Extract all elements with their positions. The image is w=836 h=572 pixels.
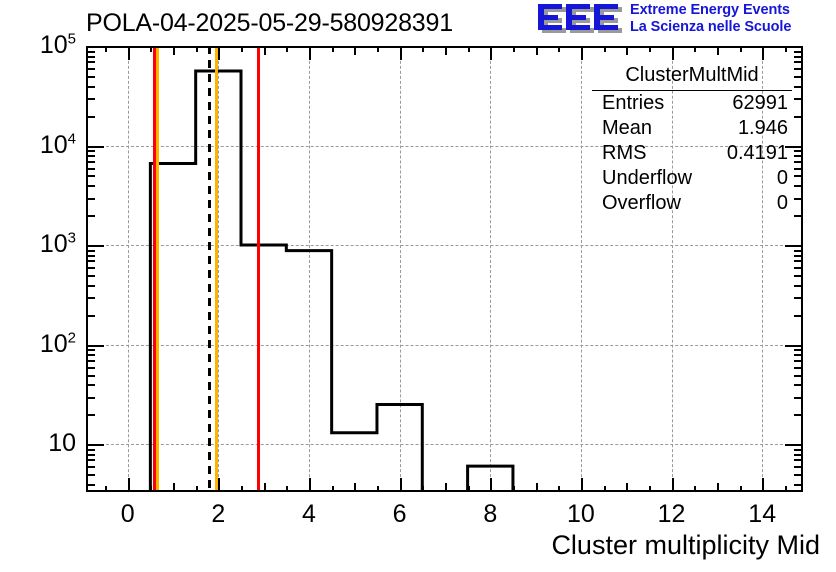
x-axis-title: Cluster multiplicity Mid [430,528,820,562]
y-axis-tick [86,449,95,451]
eee-logo-mark-icon [536,4,624,36]
y-axis-tick-right [794,459,803,461]
x-axis-tick-top [128,46,130,60]
x-axis-tick-top [196,46,198,52]
y-axis-tick [86,168,95,170]
y-axis-tick-right [794,98,803,100]
y-axis-tick [86,354,95,356]
eee-logo: Extreme Energy Events La Scienza nelle S… [536,2,836,38]
y-axis-tick [86,255,95,257]
y-axis-tick [86,150,95,152]
page-title: POLA-04-2025-05-29-580928391 [86,8,566,38]
y-axis-tick-right [794,255,803,257]
stats-row-label: Mean [602,116,652,141]
y-axis-tick-right [794,250,803,252]
y-axis-tick [86,297,95,299]
y-axis-tick-right [794,260,803,262]
x-axis-tick-top [581,46,583,60]
x-axis-tick [694,486,696,492]
stats-title: ClusterMultMid [592,63,792,91]
y-axis-tick [86,397,95,399]
stats-row: Mean1.946 [592,116,792,141]
y-axis-tick [86,484,95,486]
stats-row-value: 0 [777,191,788,216]
stats-row-label: Underflow [602,166,692,191]
y-axis-tick-right [794,297,803,299]
x-axis-tick [581,478,583,492]
stats-rows: Entries62991Mean1.946RMS0.4191Underflow0… [592,91,792,216]
x-axis-tick [513,486,515,492]
x-axis-tick-top [332,46,334,52]
y-axis-tick [86,76,95,78]
y-axis-label: 102 [0,331,76,357]
y-axis-tick [86,360,95,362]
eee-logo-line1: Extreme Energy Events [630,2,836,19]
y-axis-tick-right [794,360,803,362]
y-axis-tick [86,146,104,148]
x-axis-tick-top [626,46,628,55]
y-axis-tick-right [794,367,803,369]
x-axis-tick [173,483,175,492]
x-axis-tick [377,486,379,492]
y-axis-tick [86,155,95,157]
y-axis-tick [86,51,95,53]
y-axis-tick [86,315,95,317]
x-axis-tick-top [672,46,674,60]
stats-box: ClusterMultMid Entries62991Mean1.946RMS0… [592,63,792,208]
x-axis-label: 14 [732,500,792,528]
y-axis-tick [86,444,104,446]
stats-row-value: 1.946 [738,116,788,141]
x-axis-tick [762,478,764,492]
y-axis-tick-right [794,285,803,287]
x-axis-tick-top [286,46,288,52]
y-axis-tick-right [794,161,803,163]
x-axis-tick-top [740,46,742,52]
y-axis-tick-right [794,474,803,476]
y-axis-tick-right [794,354,803,356]
y-axis-tick-right [794,375,803,377]
x-axis-label: 10 [551,500,611,528]
x-axis-tick-top [309,46,311,60]
x-axis-label: 2 [188,500,248,528]
y-axis-tick-right [794,198,803,200]
y-axis-tick [86,250,95,252]
y-axis-tick [86,161,95,163]
x-axis-tick-top [264,46,266,55]
y-axis-tick [86,349,95,351]
y-axis-tick-right [785,345,803,347]
x-axis-tick [128,478,130,492]
x-axis-tick [354,483,356,492]
x-axis-tick-top [377,46,379,52]
x-axis-tick [649,486,651,492]
x-axis-tick [626,483,628,492]
x-axis-tick-top [513,46,515,52]
y-axis-tick-right [794,275,803,277]
y-axis-tick-right [794,454,803,456]
y-axis-tick [86,267,95,269]
stats-row: Underflow0 [592,166,792,191]
y-axis-tick-right [794,150,803,152]
y-axis-tick-right [794,68,803,70]
stats-row-label: Overflow [602,191,681,216]
y-axis-tick [86,367,95,369]
y-axis-tick-right [794,61,803,63]
y-axis-tick [86,198,95,200]
y-axis-tick [86,375,95,377]
x-axis-tick [241,486,243,492]
y-axis-tick [86,384,95,386]
x-axis-tick [558,486,560,492]
y-axis-tick-right [794,168,803,170]
stats-row: Entries62991 [592,91,792,116]
y-axis-tick-right [794,51,803,53]
y-axis-tick-right [794,155,803,157]
x-axis-tick [536,483,538,492]
y-axis-tick [86,185,95,187]
y-axis-tick [86,68,95,70]
y-axis-tick [86,245,104,247]
y-axis-label: 10 [0,430,76,456]
y-axis-tick [86,260,95,262]
x-axis-tick [105,486,107,492]
y-axis-tick-right [794,315,803,317]
y-axis-tick-right [794,414,803,416]
x-axis-tick [717,483,719,492]
stats-row-label: RMS [602,141,646,166]
x-axis-tick [400,478,402,492]
y-axis-tick-right [785,46,803,48]
x-axis-tick-top [717,46,719,55]
y-axis-label: 103 [0,231,76,257]
x-axis-label: 12 [642,500,702,528]
y-axis-tick-right [794,175,803,177]
stats-row-value: 0 [777,166,788,191]
y-axis-label: 104 [0,132,76,158]
x-axis-tick-top [536,46,538,55]
y-axis-tick [86,116,95,118]
y-axis-tick-right [794,484,803,486]
y-axis-tick [86,175,95,177]
x-axis-label: 0 [98,500,158,528]
x-axis-tick-top [762,46,764,60]
stats-row: Overflow0 [592,191,792,216]
x-axis-tick-top [400,46,402,60]
y-axis-tick-right [785,444,803,446]
x-axis-label: 8 [460,500,520,528]
x-axis-tick-top [218,46,220,60]
y-axis-tick-right [794,76,803,78]
x-axis-tick-top [241,46,243,52]
y-axis-tick [86,86,95,88]
x-axis-tick [218,478,220,492]
x-axis-tick [422,486,424,492]
x-axis-tick [309,478,311,492]
stats-row-value: 62991 [732,91,788,116]
x-axis-tick [740,486,742,492]
y-axis-tick-right [785,245,803,247]
x-axis-label: 4 [279,500,339,528]
y-axis-tick [86,56,95,58]
y-axis-tick-right [794,349,803,351]
x-axis-tick-top [558,46,560,52]
x-axis-tick-top [354,46,356,55]
x-axis-tick-top [468,46,470,52]
y-axis-tick-right [794,56,803,58]
x-axis-tick-top [649,46,651,52]
y-axis-tick [86,466,95,468]
y-axis-tick [86,98,95,100]
root-canvas: POLA-04-2025-05-29-580928391 [0,0,836,572]
y-axis-tick-right [794,449,803,451]
x-axis-tick [196,486,198,492]
y-axis-tick-right [794,185,803,187]
stats-row-value: 0.4191 [727,141,788,166]
y-axis-tick-right [794,384,803,386]
x-axis-tick-top [105,46,107,52]
x-axis-tick [286,486,288,492]
y-axis-tick [86,275,95,277]
y-axis-tick [86,345,104,347]
y-axis-tick [86,285,95,287]
y-axis-tick-right [794,466,803,468]
x-axis-tick-top [604,46,606,52]
stats-row-label: Entries [602,91,664,116]
y-axis-tick-right [794,267,803,269]
y-axis-tick-right [794,397,803,399]
y-axis-label: 105 [0,32,76,58]
y-axis-tick [86,474,95,476]
x-axis-tick [264,483,266,492]
x-axis-tick-top [422,46,424,52]
x-axis-tick [785,486,787,492]
x-axis-tick-top [490,46,492,60]
y-axis-tick [86,459,95,461]
x-axis-tick-top [150,46,152,52]
stats-row: RMS0.4191 [592,141,792,166]
eee-logo-line2: La Scienza nelle Scuole [630,19,836,36]
x-axis-tick-top [445,46,447,55]
x-axis-tick [490,478,492,492]
y-axis-tick [86,61,95,63]
y-axis-tick-right [794,116,803,118]
x-axis-tick [150,486,152,492]
x-axis-tick [445,483,447,492]
x-axis-tick-top [173,46,175,55]
y-axis-tick [86,414,95,416]
x-axis-tick [332,486,334,492]
x-axis-tick [672,478,674,492]
y-axis-tick [86,46,104,48]
x-axis-tick [604,486,606,492]
x-axis-label: 6 [370,500,430,528]
y-axis-tick-right [794,215,803,217]
eee-logo-text: Extreme Energy Events La Scienza nelle S… [630,2,836,38]
y-axis-tick-right [794,86,803,88]
y-axis-tick [86,215,95,217]
x-axis-tick [468,486,470,492]
y-axis-tick [86,454,95,456]
x-axis-tick-top [694,46,696,52]
